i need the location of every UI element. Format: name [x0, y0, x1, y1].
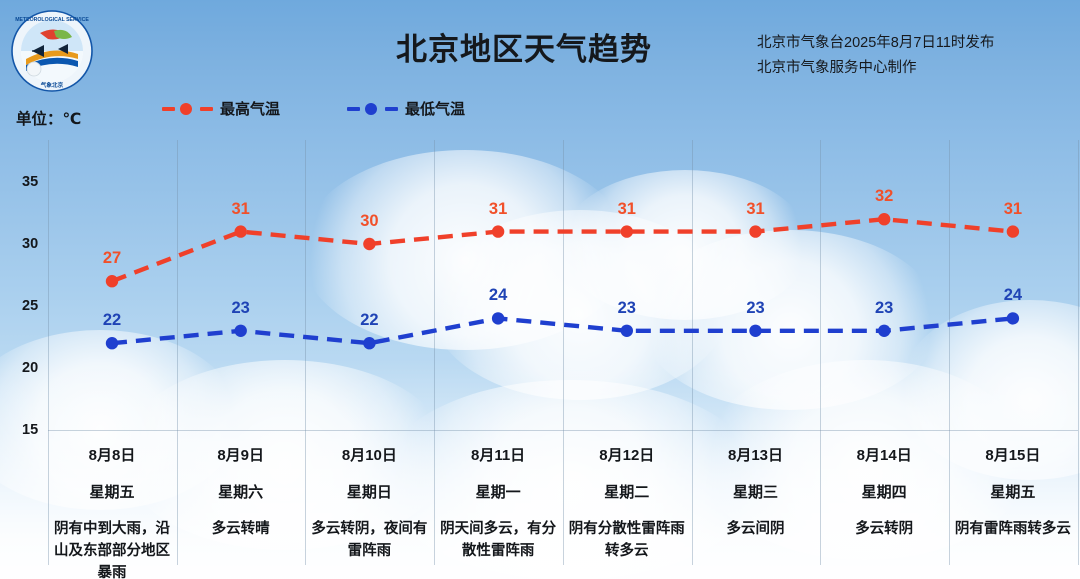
data-point-high: [1007, 225, 1019, 237]
data-point-high: [749, 225, 761, 237]
forecast-date: 8月11日: [434, 444, 562, 465]
forecast-day-column[interactable]: 8月8日星期五阴有中到大雨，沿山及东部部分地区暴雨: [48, 444, 176, 579]
data-point-high: [621, 225, 633, 237]
value-label-high: 31: [1004, 200, 1022, 219]
data-point-high: [363, 238, 375, 250]
forecast-day-column[interactable]: 8月13日星期三多云间阴: [692, 444, 820, 540]
data-point-high: [235, 225, 247, 237]
value-label-high: 32: [875, 187, 893, 206]
value-label-high: 31: [489, 200, 507, 219]
forecast-description: 多云转阴: [820, 518, 948, 540]
forecast-date: 8月9日: [177, 444, 305, 465]
forecast-day-column[interactable]: 8月9日星期六多云转晴: [177, 444, 305, 540]
data-point-high: [106, 275, 118, 287]
forecast-description: 多云间阴: [692, 518, 820, 540]
forecast-date: 8月15日: [949, 444, 1077, 465]
value-label-high: 31: [746, 200, 764, 219]
forecast-day-column[interactable]: 8月12日星期二阴有分散性雷阵雨转多云: [563, 444, 691, 562]
forecast-description: 阴有中到大雨，沿山及东部部分地区暴雨: [48, 518, 176, 579]
forecast-description: 阴天间多云，有分散性雷阵雨: [434, 518, 562, 562]
forecast-weekday: 星期五: [949, 481, 1077, 502]
value-label-high: 31: [232, 200, 250, 219]
value-label-low: 24: [489, 286, 507, 305]
forecast-weekday: 星期五: [48, 481, 176, 502]
forecast-weekday: 星期日: [305, 481, 433, 502]
line-low-temp: [112, 318, 1013, 343]
weather-trend-infographic: METEOROLOGICAL SERVICE 气象北京 北京地区天气趋势 北京市…: [0, 0, 1080, 579]
data-point-low: [492, 312, 504, 324]
data-point-low: [1007, 312, 1019, 324]
forecast-date: 8月14日: [820, 444, 948, 465]
value-label-low: 23: [875, 299, 893, 318]
value-label-high: 31: [618, 200, 636, 219]
forecast-weekday: 星期一: [434, 481, 562, 502]
data-point-low: [363, 337, 375, 349]
data-point-high: [492, 225, 504, 237]
line-high-temp: [112, 219, 1013, 281]
data-point-low: [878, 325, 890, 337]
forecast-date: 8月8日: [48, 444, 176, 465]
value-label-low: 24: [1004, 286, 1022, 305]
forecast-weekday: 星期二: [563, 481, 691, 502]
forecast-date: 8月12日: [563, 444, 691, 465]
forecast-day-column[interactable]: 8月10日星期日多云转阴，夜间有雷阵雨: [305, 444, 433, 562]
value-label-high: 27: [103, 249, 121, 268]
value-label-low: 23: [618, 299, 636, 318]
value-label-low: 23: [232, 299, 250, 318]
forecast-description: 阴有分散性雷阵雨转多云: [563, 518, 691, 562]
forecast-weekday: 星期三: [692, 481, 820, 502]
forecast-date: 8月10日: [305, 444, 433, 465]
forecast-weekday: 星期六: [177, 481, 305, 502]
forecast-day-column[interactable]: 8月15日星期五阴有雷阵雨转多云: [949, 444, 1077, 540]
forecast-description: 多云转晴: [177, 518, 305, 540]
data-point-low: [749, 325, 761, 337]
value-label-low: 22: [360, 311, 378, 330]
data-point-low: [621, 325, 633, 337]
value-label-high: 30: [360, 212, 378, 231]
forecast-weekday: 星期四: [820, 481, 948, 502]
data-point-low: [235, 325, 247, 337]
forecast-description: 阴有雷阵雨转多云: [949, 518, 1077, 540]
forecast-day-column[interactable]: 8月11日星期一阴天间多云，有分散性雷阵雨: [434, 444, 562, 562]
forecast-date: 8月13日: [692, 444, 820, 465]
data-point-high: [878, 213, 890, 225]
value-label-low: 23: [746, 299, 764, 318]
forecast-day-column[interactable]: 8月14日星期四多云转阴: [820, 444, 948, 540]
data-point-low: [106, 337, 118, 349]
forecast-description: 多云转阴，夜间有雷阵雨: [305, 518, 433, 562]
value-label-low: 22: [103, 311, 121, 330]
